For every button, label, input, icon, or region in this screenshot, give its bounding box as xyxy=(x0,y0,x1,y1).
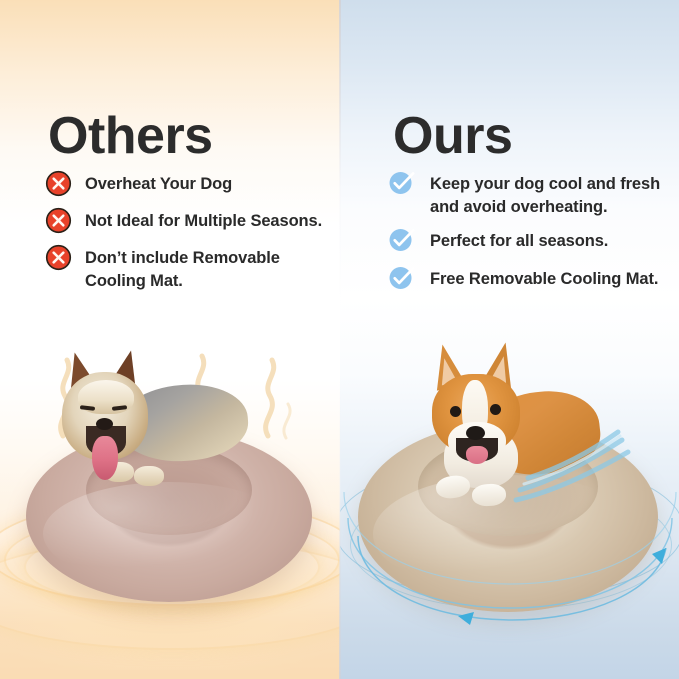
list-item-label: Not Ideal for Multiple Seasons. xyxy=(85,210,322,233)
dog-paw xyxy=(134,466,164,486)
list-item-label: Keep your dog cool and fresh and avoid o… xyxy=(430,173,663,219)
list-item: Don’t include Removable Cooling Mat. xyxy=(45,247,325,293)
dog-tongue xyxy=(92,436,118,480)
ours-bullet-list: Keep your dog cool and fresh and avoid o… xyxy=(388,173,663,306)
check-circle-icon xyxy=(388,264,415,291)
ours-panel: Ours Keep your dog cool and fresh and av… xyxy=(340,0,679,679)
list-item: Perfect for all seasons. xyxy=(388,230,663,257)
corgi-in-beige-donut-bed xyxy=(340,340,679,679)
page-title-ours: Ours xyxy=(393,110,512,162)
list-item: Free Removable Cooling Mat. xyxy=(388,268,663,295)
check-circle-icon xyxy=(388,226,415,253)
cross-circle-icon xyxy=(45,170,72,197)
cross-circle-icon xyxy=(45,207,72,234)
yorkshire-terrier-in-pink-donut-bed xyxy=(0,340,340,679)
list-item-label: Perfect for all seasons. xyxy=(430,230,608,253)
dog-nose xyxy=(466,426,485,440)
comparison-infographic: Others Overheat Your Dog xyxy=(0,0,679,679)
others-panel: Others Overheat Your Dog xyxy=(0,0,340,679)
cool-air-swoosh-icon xyxy=(510,418,679,508)
check-circle-icon xyxy=(388,169,415,196)
others-bullet-list: Overheat Your Dog Not Ideal for Multiple… xyxy=(45,173,325,303)
dog-paw xyxy=(471,483,506,507)
list-item-label: Don’t include Removable Cooling Mat. xyxy=(85,247,325,293)
yorkshire-terrier-dog xyxy=(0,340,340,600)
page-title-others: Others xyxy=(48,110,213,162)
dog-eye-right xyxy=(490,404,501,415)
panel-divider xyxy=(339,0,341,679)
list-item: Not Ideal for Multiple Seasons. xyxy=(45,210,325,237)
dog-nose xyxy=(96,418,113,430)
dog-paw xyxy=(435,474,472,501)
dog-eye-left xyxy=(450,406,461,417)
cross-circle-icon xyxy=(45,244,72,271)
dog-tongue xyxy=(466,446,488,464)
list-item: Keep your dog cool and fresh and avoid o… xyxy=(388,173,663,219)
list-item-label: Overheat Your Dog xyxy=(85,173,232,196)
list-item-label: Free Removable Cooling Mat. xyxy=(430,268,658,291)
list-item: Overheat Your Dog xyxy=(45,173,325,200)
